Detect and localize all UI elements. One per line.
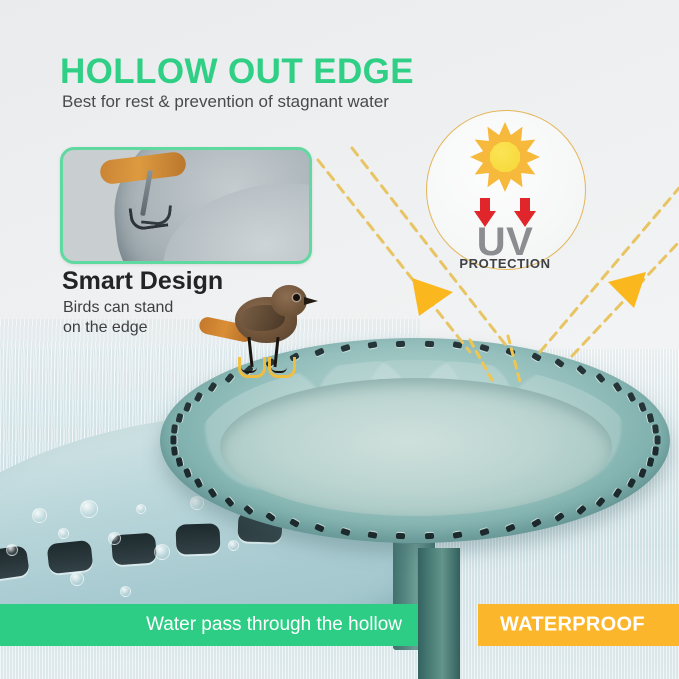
pedestal-foreground [418,548,460,679]
water-droplet [6,544,18,556]
water-droplet [80,500,98,518]
water-pass-banner: Water pass through the hollow [0,604,430,646]
hollow-slot [170,436,176,445]
hollow-slot [652,424,659,434]
bird-eye [293,294,300,301]
uv-sublabel: PROTECTION [426,257,584,270]
page-title: HOLLOW OUT EDGE [60,54,414,89]
water-pass-banner-label: Water pass through the hollow [146,614,402,636]
hollow-slot [47,540,94,574]
smart-design-line1: Birds can stand [63,298,173,318]
page-subtitle: Best for rest & prevention of stagnant w… [62,92,389,112]
water-droplet [58,528,69,539]
hollow-slot [424,533,433,540]
waterproof-banner-label: WATERPROOF [500,614,645,637]
bowl-basin [220,378,612,516]
bird-foot [271,365,287,373]
water-droplet [108,532,121,545]
bird-beak [304,297,318,305]
hollow-slot [396,533,405,540]
hollow-slot [452,531,462,538]
perched-bird [205,283,325,378]
smart-design-line2: on the edge [63,318,173,338]
hollow-slot [396,341,405,348]
bird-foot-closeup-photo [60,147,312,264]
hollow-slot [171,424,178,434]
water-droplet [120,586,131,597]
ray-arrowhead-left [412,278,453,316]
water-droplet [136,504,146,514]
ray-arrowhead-right [608,272,646,308]
smart-design-title: Smart Design [62,269,223,294]
smart-design-description: Birds can stand on the edge [63,298,173,338]
waterproof-banner: WATERPROOF [478,604,679,646]
sun-icon [470,122,540,192]
water-droplet [32,508,47,523]
hollow-slot [652,446,659,456]
hollow-slot [171,446,178,456]
bird-head [271,285,307,317]
hollow-slot [368,531,378,538]
bird-bath [150,330,679,650]
hollow-slot [654,436,660,445]
hollow-slot [424,341,433,348]
infographic-canvas: HOLLOW OUT EDGE Best for rest & preventi… [0,0,679,679]
inset-bird-foot [108,154,160,224]
water-droplet [70,572,84,586]
bird-foot [241,365,257,373]
